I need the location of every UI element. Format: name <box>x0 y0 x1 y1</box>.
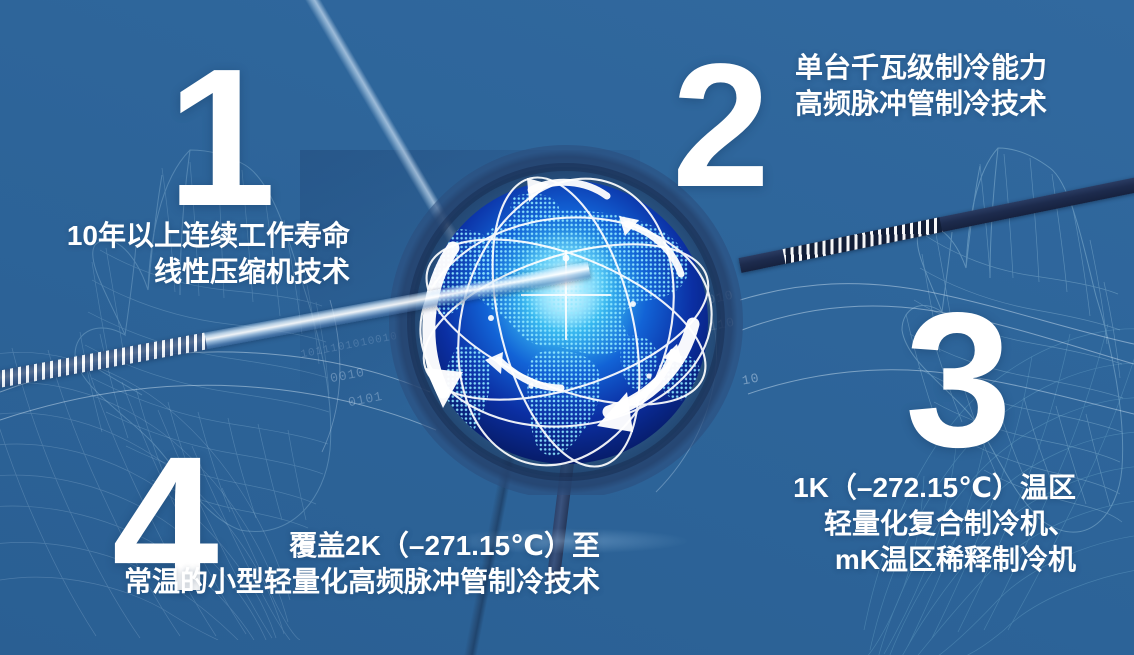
item-2-line-1: 单台千瓦级制冷能力 <box>795 50 1047 86</box>
item-2-line-2: 高频脉冲管制冷技术 <box>795 86 1047 122</box>
item-3-line-1: 1K（–272.15℃）温区 <box>793 470 1076 506</box>
item-number-1: 1 <box>167 40 274 236</box>
item-1-line-1: 10年以上连续工作寿命 <box>44 218 350 254</box>
item-4-line-2: 常温的小型轻量化高频脉冲管制冷技术 <box>60 564 600 600</box>
item-1-line-2: 线性压缩机技术 <box>44 254 350 290</box>
item-3-line-2: 轻量化复合制冷机、 <box>793 506 1076 542</box>
item-4-line-1: 覆盖2K（–271.15℃）至 <box>60 528 600 564</box>
item-3-line-3: mK温区稀释制冷机 <box>793 542 1076 578</box>
item-number-2: 2 <box>672 38 768 214</box>
item-number-3: 3 <box>905 284 1010 476</box>
item-text-1: 10年以上连续工作寿命 线性压缩机技术 <box>44 218 350 290</box>
item-text-3: 1K（–272.15℃）温区 轻量化复合制冷机、 mK温区稀释制冷机 <box>793 470 1076 577</box>
item-text-2: 单台千瓦级制冷能力 高频脉冲管制冷技术 <box>795 50 1047 122</box>
item-text-4: 覆盖2K（–271.15℃）至 常温的小型轻量化高频脉冲管制冷技术 <box>60 528 600 600</box>
infographic-poster: 10010 1110 0010 0101 10 1011101010010 <box>0 0 1134 655</box>
